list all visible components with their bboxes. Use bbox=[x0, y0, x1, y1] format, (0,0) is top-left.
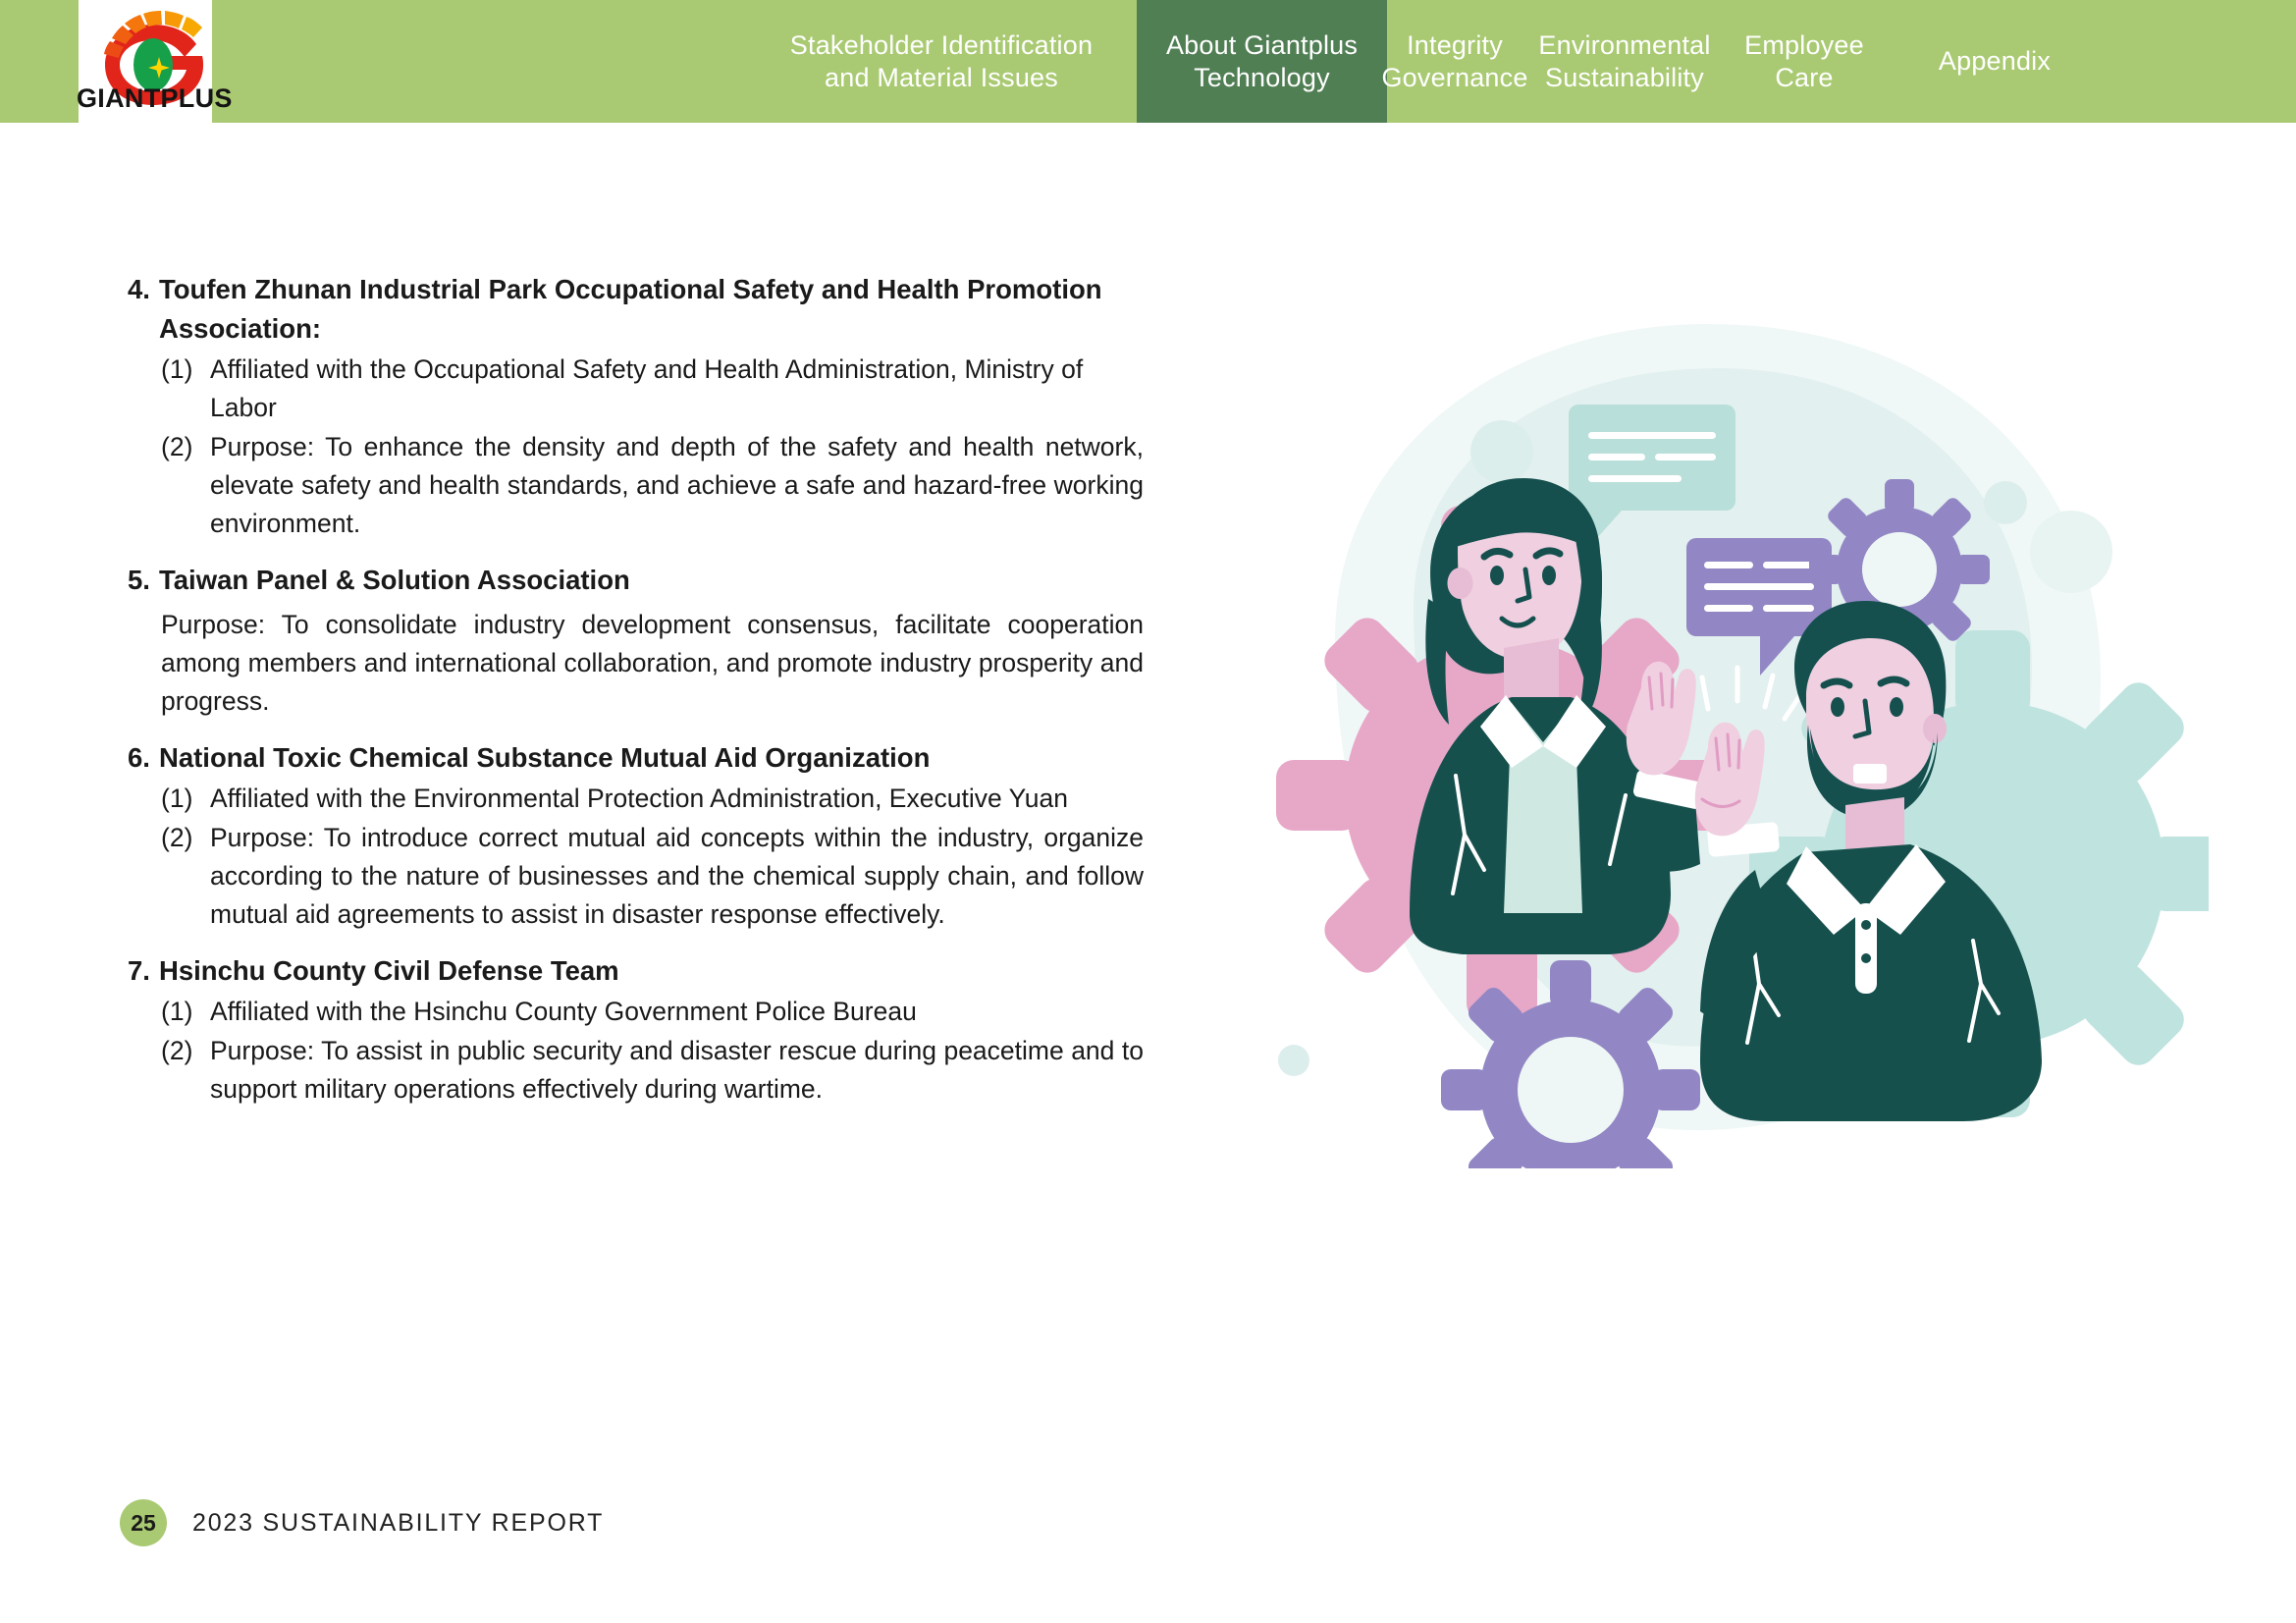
body-content: 4. Toufen Zhunan Industrial Park Occupat… bbox=[128, 270, 1144, 1112]
section-title: National Toxic Chemical Substance Mutual… bbox=[159, 738, 1144, 778]
report-page: Stakeholder Identification and Material … bbox=[0, 0, 2296, 1623]
section-paragraph: Purpose: To consolidate industry develop… bbox=[128, 606, 1144, 721]
teamwork-gears-conversation-illustration bbox=[1217, 285, 2209, 1168]
nav-tab-about-giantplus-technology[interactable]: About Giantplus Technology bbox=[1137, 0, 1387, 123]
brand-name: GIANTPLUS bbox=[77, 83, 233, 114]
top-navigation-bar: Stakeholder Identification and Material … bbox=[0, 0, 2296, 123]
item-text: Purpose: To assist in public security an… bbox=[210, 1032, 1144, 1109]
section-item: (2) Purpose: To assist in public securit… bbox=[128, 1032, 1144, 1109]
item-text: Affiliated with the Hsinchu County Gover… bbox=[210, 993, 1144, 1031]
section-number: 6. bbox=[128, 738, 159, 778]
item-marker: (2) bbox=[161, 428, 210, 543]
section-item: (1) Affiliated with the Environmental Pr… bbox=[128, 780, 1144, 818]
nav-tab-stakeholder-identification[interactable]: Stakeholder Identification and Material … bbox=[746, 0, 1137, 123]
section-heading: 7. Hsinchu County Civil Defense Team bbox=[128, 951, 1144, 991]
item-text: Purpose: To enhance the density and dept… bbox=[210, 428, 1144, 543]
illustration-svg bbox=[1217, 285, 2209, 1168]
logo-lash-5 bbox=[165, 11, 184, 28]
item-marker: (1) bbox=[161, 780, 210, 818]
item-text: Affiliated with the Occupational Safety … bbox=[210, 351, 1144, 427]
section-title: Toufen Zhunan Industrial Park Occupation… bbox=[159, 270, 1144, 349]
section-number: 4. bbox=[128, 270, 159, 349]
section-item: (2) Purpose: To enhance the density and … bbox=[128, 428, 1144, 543]
section-item: (1) Affiliated with the Occupational Saf… bbox=[128, 351, 1144, 427]
section-number: 5. bbox=[128, 561, 159, 600]
section-4: 4. Toufen Zhunan Industrial Park Occupat… bbox=[128, 270, 1144, 543]
item-marker: (2) bbox=[161, 1032, 210, 1109]
logo-lash-4 bbox=[143, 11, 162, 27]
page-footer: 25 2023 SUSTAINABILITY REPORT bbox=[120, 1499, 604, 1546]
section-title: Taiwan Panel & Solution Association bbox=[159, 561, 1144, 600]
section-heading: 4. Toufen Zhunan Industrial Park Occupat… bbox=[128, 270, 1144, 349]
section-heading: 6. National Toxic Chemical Substance Mut… bbox=[128, 738, 1144, 778]
item-marker: (1) bbox=[161, 993, 210, 1031]
deco-circle-4 bbox=[1278, 1045, 1309, 1076]
item-marker: (2) bbox=[161, 819, 210, 934]
page-number-badge: 25 bbox=[120, 1499, 167, 1546]
section-heading: 5. Taiwan Panel & Solution Association bbox=[128, 561, 1144, 600]
section-6: 6. National Toxic Chemical Substance Mut… bbox=[128, 738, 1144, 934]
deco-circle-1 bbox=[1470, 420, 1533, 483]
nav-tab-employee-care[interactable]: Employee Care bbox=[1727, 0, 1882, 123]
section-item: (2) Purpose: To introduce correct mutual… bbox=[128, 819, 1144, 934]
item-marker: (1) bbox=[161, 351, 210, 427]
deco-circle-2 bbox=[1984, 481, 2027, 524]
section-item: (1) Affiliated with the Hsinchu County G… bbox=[128, 993, 1144, 1031]
nav-tab-integrity-governance[interactable]: Integrity Governance bbox=[1387, 0, 1522, 123]
section-7: 7. Hsinchu County Civil Defense Team (1)… bbox=[128, 951, 1144, 1109]
footer-report-label: 2023 SUSTAINABILITY REPORT bbox=[192, 1509, 604, 1538]
nav-items: Stakeholder Identification and Material … bbox=[746, 0, 2296, 123]
section-number: 7. bbox=[128, 951, 159, 991]
item-text: Affiliated with the Environmental Protec… bbox=[210, 780, 1144, 818]
nav-tab-environmental-sustainability[interactable]: Environmental Sustainability bbox=[1522, 0, 1727, 123]
nav-tab-appendix[interactable]: Appendix bbox=[1882, 0, 2108, 123]
item-text: Purpose: To introduce correct mutual aid… bbox=[210, 819, 1144, 934]
deco-circle-3 bbox=[2030, 511, 2112, 593]
section-5: 5. Taiwan Panel & Solution Association P… bbox=[128, 561, 1144, 721]
section-title: Hsinchu County Civil Defense Team bbox=[159, 951, 1144, 991]
